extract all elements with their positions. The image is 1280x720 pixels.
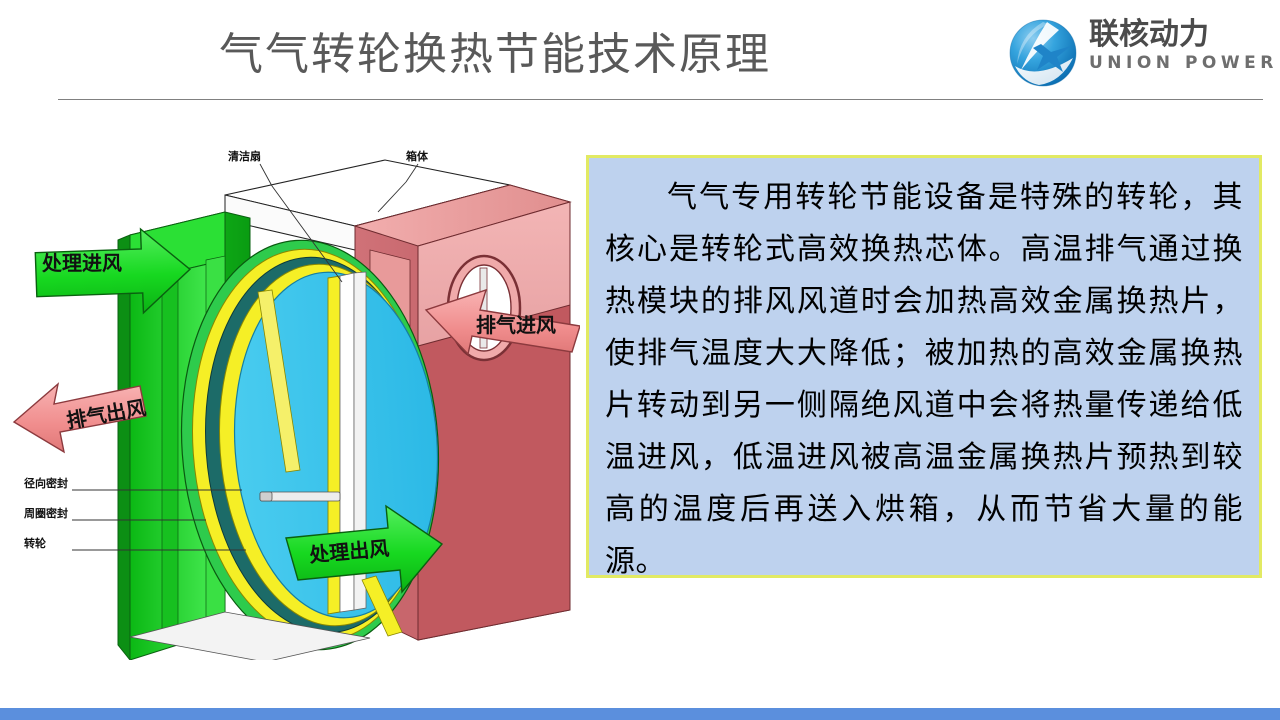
callout-label-circumferential-seal: 周圈密封 <box>24 506 68 520</box>
callout-label-radial-seal: 径向密封 <box>24 476 68 490</box>
company-name-en: UNION POWER <box>1089 52 1269 74</box>
callout-label-cleaning-sector: 清洁扇 <box>228 149 261 163</box>
arrow-label-exhaust-inlet: 排气进风 <box>476 313 556 337</box>
company-logo: 联核动力 UNION POWER <box>1003 12 1265 94</box>
callout-label-casing: 箱体 <box>406 149 429 163</box>
page-title: 气气转轮换热节能技术原理 <box>0 18 990 82</box>
callout-label-rotor-wheel: 转轮 <box>24 536 46 550</box>
header-divider <box>58 99 1263 100</box>
description-paragraph: 气气专用转轮节能设备是特殊的转轮，其核心是转轮式高效换热芯体。高温排气通过换热模… <box>589 158 1259 588</box>
logo-wordmark: 联核动力 UNION POWER <box>1089 18 1269 74</box>
union-power-globe-icon <box>1003 14 1083 92</box>
description-panel: 气气专用转轮节能设备是特殊的转轮，其核心是转轮式高效换热芯体。高温排气通过换热模… <box>586 155 1262 578</box>
footer-accent-bar <box>0 708 1280 720</box>
rotary-heat-exchanger-diagram: 处理进风 排气进风 排气出风 处理出风 清洁扇 箱体 径向密封 周圈密封 转轮 <box>10 140 580 660</box>
company-name-cn: 联核动力 <box>1089 18 1269 52</box>
arrow-label-process-inlet: 处理进风 <box>41 251 122 275</box>
